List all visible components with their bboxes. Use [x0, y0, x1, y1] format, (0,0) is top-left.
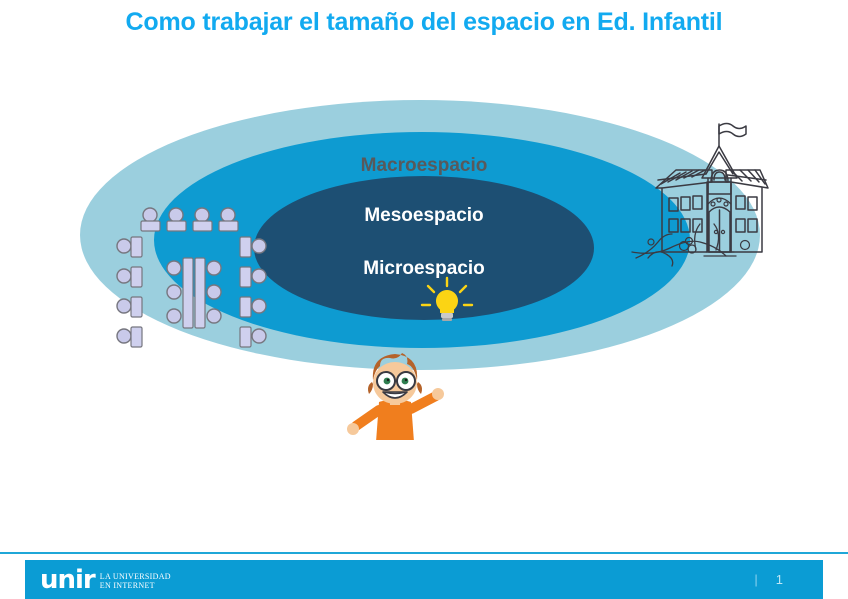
concentric-space-diagram: Macroespacio Mesoespacio Microespacio [0, 100, 848, 440]
unir-tagline-line1: LA UNIVERSIDAD [100, 572, 171, 581]
unir-logo: unir LA UNIVERSIDAD EN INTERNET [40, 569, 171, 591]
ring-microespacio [254, 176, 594, 320]
ring-label-microespacio: Microespacio [0, 258, 848, 280]
ring-label-mesoespacio: Mesoespacio [0, 205, 848, 227]
unir-tagline: LA UNIVERSIDAD EN INTERNET [100, 572, 171, 590]
page-separator: | [754, 572, 757, 587]
unir-tagline-line2: EN INTERNET [100, 581, 155, 590]
lightbulb-base [441, 313, 453, 318]
footer-divider [0, 552, 848, 554]
footer-page-indicator: | 1 [754, 572, 783, 587]
unir-wordmark: unir [40, 569, 95, 591]
page-title: Como trabajar el tamaño del espacio en E… [0, 8, 848, 37]
footer-bar: unir LA UNIVERSIDAD EN INTERNET | 1 [25, 560, 823, 599]
ring-label-macroespacio: Macroespacio [0, 155, 848, 177]
page-number: 1 [776, 572, 783, 587]
